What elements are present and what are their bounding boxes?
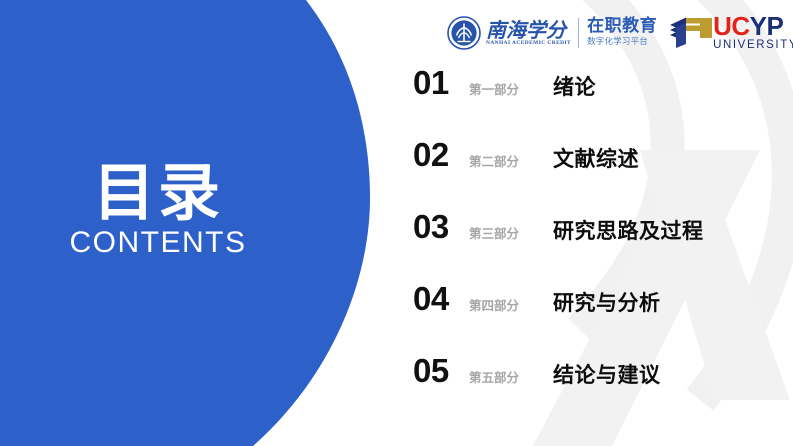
ucyp-name-navy: YP <box>750 11 784 41</box>
contents-item-title: 结论与建议 <box>553 365 661 386</box>
nanhai-name-cn: 南海学分 <box>486 20 571 40</box>
ucyp-subtitle: UNIVERSITY <box>713 40 793 52</box>
contents-list: 01 第一部分 绪论 02 第二部分 文献综述 03 第三部分 研究思路及过程 … <box>413 66 783 426</box>
nanhai-name-en: NANHAI ACEDEMIC CREDIT <box>486 41 571 46</box>
zhizhi-logo: 在职教育 数字化学习平台 <box>587 18 657 47</box>
page-title-cn: 目录 <box>0 163 316 224</box>
page-title: 目录 CONTENTS <box>0 163 316 260</box>
ucyp-wordmark: UCYP UNIVERSITY <box>713 15 793 52</box>
contents-item-part: 第一部分 <box>469 84 553 97</box>
contents-item-part: 第三部分 <box>469 228 553 241</box>
academic-seal-icon <box>447 16 481 50</box>
contents-item-title: 研究思路及过程 <box>553 221 704 242</box>
contents-item-03[interactable]: 03 第三部分 研究思路及过程 <box>413 210 783 282</box>
zhizhi-name-cn: 在职教育 <box>587 18 657 36</box>
ucyp-name: UCYP <box>713 15 793 38</box>
contents-item-part: 第二部分 <box>469 156 553 169</box>
page-title-en: CONTENTS <box>0 226 316 260</box>
contents-item-part: 第五部分 <box>469 372 553 385</box>
contents-item-title: 绪论 <box>553 77 596 98</box>
contents-item-05[interactable]: 05 第五部分 结论与建议 <box>413 354 783 426</box>
contents-item-01[interactable]: 01 第一部分 绪论 <box>413 66 783 138</box>
contents-item-part: 第四部分 <box>469 300 553 313</box>
contents-item-number: 04 <box>413 282 469 315</box>
ucyp-name-red: UC <box>713 11 750 41</box>
logo-bar: 南海学分 NANHAI ACEDEMIC CREDIT 在职教育 数字化学习平台 <box>447 10 793 56</box>
contents-item-title: 研究与分析 <box>553 293 661 314</box>
contents-item-title: 文献综述 <box>553 149 639 170</box>
contents-item-02[interactable]: 02 第二部分 文献综述 <box>413 138 783 210</box>
logo-divider <box>578 18 579 48</box>
contents-item-number: 02 <box>413 138 469 171</box>
zhizhi-subtitle-cn: 数字化学习平台 <box>587 38 657 47</box>
ucyp-logo: UCYP UNIVERSITY <box>670 15 793 52</box>
contents-item-04[interactable]: 04 第四部分 研究与分析 <box>413 282 783 354</box>
contents-item-number: 03 <box>413 210 469 243</box>
ucyp-chevron-mark-icon <box>670 16 712 50</box>
nanhai-wordmark: 南海学分 NANHAI ACEDEMIC CREDIT <box>486 20 571 46</box>
slide-canvas: 目录 CONTENTS 南海学分 NANHAI ACEDEMIC CREDIT … <box>0 0 793 446</box>
nanhai-logo: 南海学分 NANHAI ACEDEMIC CREDIT <box>447 16 571 50</box>
contents-item-number: 01 <box>413 66 469 99</box>
contents-item-number: 05 <box>413 354 469 387</box>
